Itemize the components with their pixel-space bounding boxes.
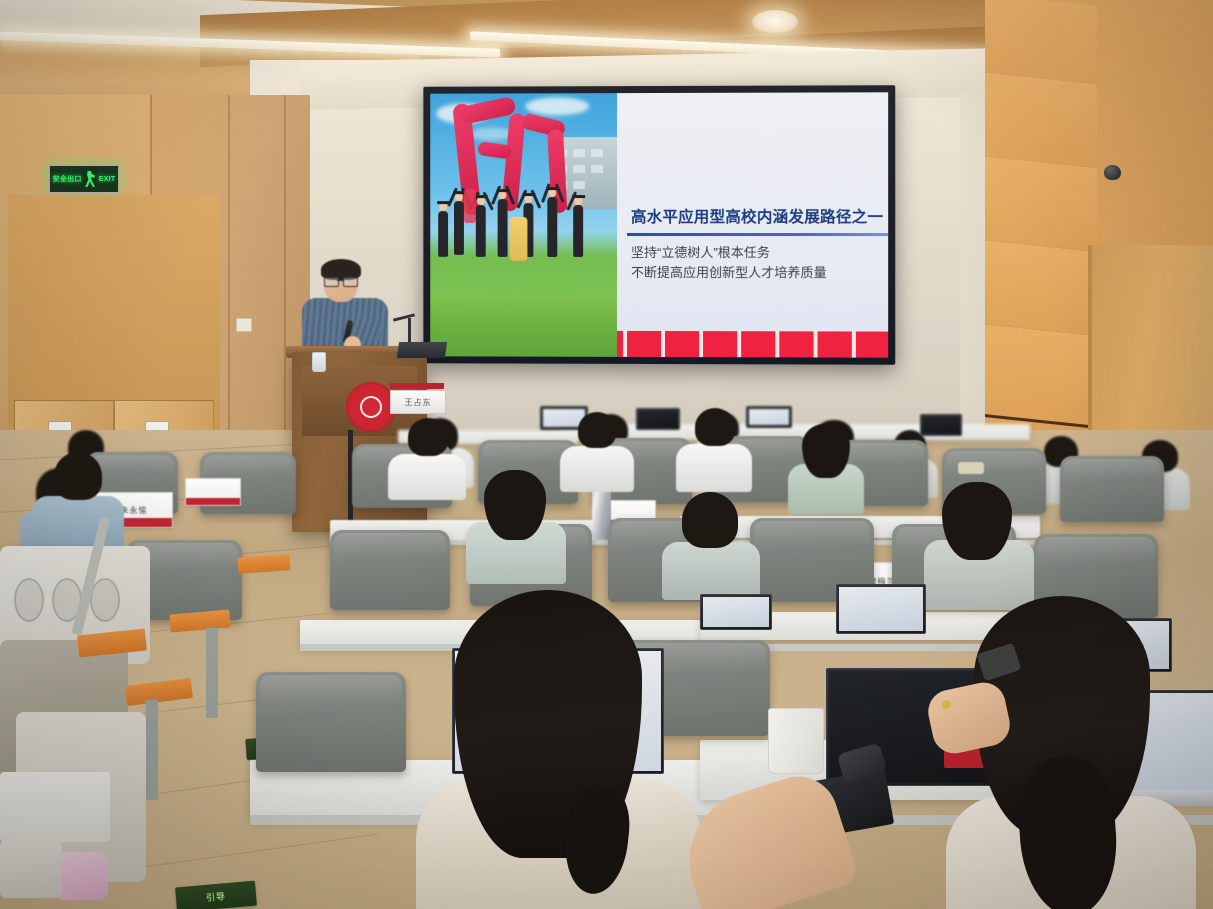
slide-photo — [430, 93, 617, 357]
glasses-icon — [324, 277, 358, 285]
attendee — [466, 470, 566, 578]
podium-nameplate: 王占东 — [390, 390, 446, 414]
attendee — [924, 482, 1034, 602]
podium-laptop — [397, 342, 447, 358]
screen-content: 高水平应用型高校内涵发展路径之一 坚持“立德树人”根本任务 不断提高应用创新型人… — [430, 92, 888, 357]
floor-sticker-label-2: 引导 — [205, 889, 226, 904]
attendee — [32, 452, 124, 548]
podium-nameplate-label: 王占东 — [405, 397, 432, 408]
laptop-edge — [0, 772, 110, 842]
lawn — [430, 295, 617, 357]
ceiling-downlight — [752, 10, 798, 34]
laptop — [746, 406, 790, 428]
laptop — [836, 584, 924, 636]
wall-switch[interactable] — [236, 318, 252, 332]
slide-title: 高水平应用型高校内涵发展路径之一 — [631, 205, 884, 227]
attendee — [788, 424, 864, 508]
seat-post — [206, 628, 218, 718]
laptop — [636, 408, 678, 430]
seat-back — [256, 672, 406, 772]
lecture-hall-photo: 安全出口 EXIT — [0, 0, 1213, 909]
exit-sign-label-cn: 安全出口 — [53, 174, 82, 184]
slide-text-panel: 高水平应用型高校内涵发展路径之一 坚持“立德树人”根本任务 不断提高应用创新型人… — [617, 92, 888, 357]
emergency-exit-sign: 安全出口 EXIT — [48, 164, 120, 194]
name-card-label: 朱永愉 — [121, 505, 148, 516]
attendee-name-card — [185, 478, 241, 506]
slide-body: 坚持“立德树人”根本任务 不断提高应用创新型人才培养质量 — [631, 243, 882, 284]
foreground-attendee-center — [416, 590, 702, 909]
paper-cup — [768, 708, 824, 774]
right-wall-panel-5 — [985, 324, 1097, 429]
attendee — [560, 412, 634, 486]
water-cup — [312, 352, 326, 372]
right-wall-panel-4 — [985, 240, 1097, 339]
slide-footer-pattern — [617, 331, 888, 358]
pouch — [56, 852, 108, 900]
running-man-icon — [84, 171, 97, 187]
right-wall-panel-2 — [985, 72, 1097, 171]
attendee — [676, 408, 752, 486]
attendee — [662, 492, 760, 592]
exit-sign-label-en: EXIT — [99, 176, 116, 183]
bag-corner — [0, 840, 62, 898]
seat-post — [146, 700, 158, 800]
slide-body-line-1: 坚持“立德树人”根本任务 — [631, 243, 882, 263]
slide-title-underline — [627, 233, 888, 236]
security-camera-icon — [1104, 165, 1121, 180]
ring-icon — [942, 700, 951, 709]
attendee — [388, 418, 466, 494]
slide-body-line-2: 不断提高应用创新型人才培养质量 — [631, 263, 882, 283]
nameplate-accent — [390, 383, 444, 389]
laptop — [920, 414, 960, 436]
foreground-attendee-right — [926, 596, 1196, 909]
seat-back — [1060, 456, 1164, 522]
presentation-screen: 高水平应用型高校内涵发展路径之一 坚持“立德树人”根本任务 不断提高应用创新型人… — [423, 85, 895, 365]
right-wall-panel-3 — [985, 156, 1097, 255]
laptop — [700, 594, 770, 632]
desk-item — [958, 462, 984, 474]
